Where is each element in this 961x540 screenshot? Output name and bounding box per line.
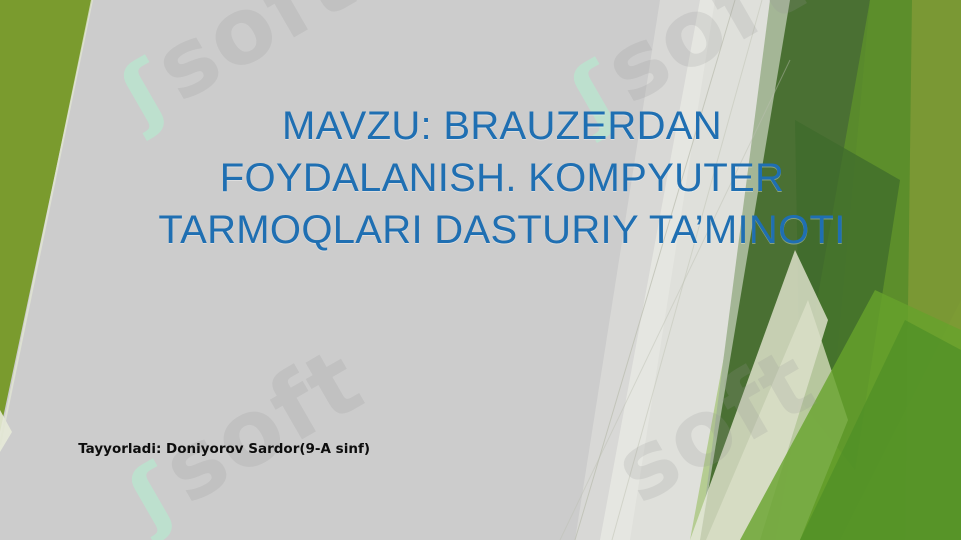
slide-content: MAVZU: BRAUZERDAN FOYDALANISH. KOMPYUTER… bbox=[0, 0, 961, 540]
slide-subtitle-author: Tayyorladi: Doniyorov Sardor(9-A sinf) bbox=[60, 440, 370, 459]
slide-title: MAVZU: BRAUZERDAN FOYDALANISH. KOMPYUTER… bbox=[152, 100, 852, 256]
presentation-slide: soft ʃ soft ʃ soft ʃ soft MAVZU: BRAUZER… bbox=[0, 0, 961, 540]
